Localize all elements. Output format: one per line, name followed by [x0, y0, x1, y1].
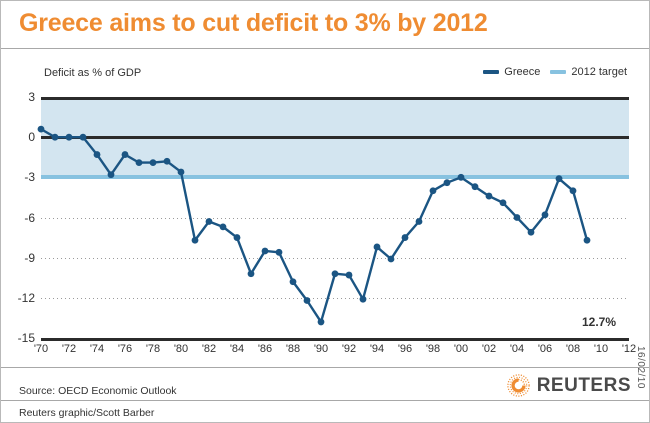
- x-axis-tick-label: '98: [426, 343, 440, 355]
- x-axis-tick-label: '04: [510, 343, 524, 355]
- data-point: [136, 159, 143, 166]
- reuters-logo: REUTERS: [507, 374, 631, 397]
- page-title: Greece aims to cut deficit to 3% by 2012: [19, 9, 488, 38]
- chart-legend: Greece 2012 target: [483, 66, 627, 78]
- x-axis-tick-label: '80: [174, 343, 188, 355]
- data-point: [80, 134, 87, 141]
- data-point: [514, 214, 521, 221]
- data-point: [402, 234, 409, 241]
- x-axis-tick-label: '90: [314, 343, 328, 355]
- legend-swatch-2012-target: [550, 70, 566, 74]
- x-axis-tick-label: '74: [90, 343, 104, 355]
- data-point: [318, 319, 325, 326]
- data-point: [192, 237, 199, 244]
- data-point: [178, 169, 185, 176]
- graphic-credit: Reuters graphic/Scott Barber: [19, 407, 154, 419]
- reuters-wordmark: REUTERS: [537, 375, 631, 397]
- data-point: [360, 296, 367, 303]
- x-axis-tick-label: '92: [342, 343, 356, 355]
- data-point: [430, 187, 437, 194]
- data-point: [584, 237, 591, 244]
- plot-area: 30-3-6-9-12-15'70'72'74'76'78'80'82'84'8…: [41, 97, 629, 338]
- value-annotation: 12.7%: [582, 315, 616, 329]
- data-point: [542, 211, 549, 218]
- data-point: [66, 134, 73, 141]
- data-point: [332, 270, 339, 277]
- x-axis-tick-label: '76: [118, 343, 132, 355]
- source-text: Source: OECD Economic Outlook: [19, 385, 177, 397]
- x-axis-tick-label: '88: [286, 343, 300, 355]
- x-axis-tick-label: '70: [34, 343, 48, 355]
- x-axis-tick-label: '78: [146, 343, 160, 355]
- data-point: [556, 175, 563, 182]
- data-point: [458, 174, 465, 181]
- data-point: [206, 218, 213, 225]
- data-point: [52, 134, 59, 141]
- x-axis-tick-label: '06: [538, 343, 552, 355]
- data-point: [234, 234, 241, 241]
- chart-subtitle: Deficit as % of GDP: [44, 67, 141, 79]
- x-axis-tick-label: '86: [258, 343, 272, 355]
- x-axis-tick-label: '10: [594, 343, 608, 355]
- data-point: [164, 158, 171, 165]
- chart-container: Deficit as % of GDP Greece 2012 target 3…: [1, 50, 649, 367]
- series-line: [41, 129, 587, 322]
- reuters-orb-icon: [507, 374, 530, 397]
- data-point: [108, 171, 115, 178]
- data-point: [388, 256, 395, 263]
- data-point: [290, 278, 297, 285]
- data-point: [528, 229, 535, 236]
- y-axis-tick-label: -9: [5, 251, 35, 265]
- data-point: [38, 126, 45, 133]
- infographic-page: Greece aims to cut deficit to 3% by 2012…: [0, 0, 650, 423]
- data-point: [262, 248, 269, 255]
- data-point: [346, 272, 353, 279]
- x-axis-tick-label: '96: [398, 343, 412, 355]
- legend-label-greece: Greece: [504, 66, 540, 78]
- data-point: [276, 249, 283, 256]
- x-axis-tick-label: '94: [370, 343, 384, 355]
- y-axis-tick-label: -6: [5, 211, 35, 225]
- y-axis-tick-label: -15: [5, 331, 35, 345]
- data-point: [570, 187, 577, 194]
- y-axis-tick-label: 3: [5, 90, 35, 104]
- x-axis-tick-label: '72: [62, 343, 76, 355]
- y-axis-tick-label: -3: [5, 170, 35, 184]
- title-bar: Greece aims to cut deficit to 3% by 2012: [1, 1, 649, 49]
- data-point: [472, 183, 479, 190]
- data-point: [500, 199, 507, 206]
- x-axis-tick-label: '02: [482, 343, 496, 355]
- legend-item-greece: Greece: [483, 66, 540, 78]
- x-axis-tick-label: '82: [202, 343, 216, 355]
- data-point: [444, 179, 451, 186]
- data-point: [374, 244, 381, 251]
- legend-item-2012-target: 2012 target: [550, 66, 627, 78]
- x-axis-tick-label: '00: [454, 343, 468, 355]
- y-axis-tick-label: 0: [5, 130, 35, 144]
- legend-swatch-greece: [483, 70, 499, 74]
- x-axis-tick-label: '08: [566, 343, 580, 355]
- x-axis-tick-label: '84: [230, 343, 244, 355]
- source-bar: Source: OECD Economic Outlook REUTERS: [1, 367, 649, 401]
- axis-bottom: [41, 338, 629, 341]
- y-axis-tick-label: -12: [5, 291, 35, 305]
- data-point: [248, 270, 255, 277]
- series-greece: [41, 97, 629, 338]
- data-point: [220, 223, 227, 230]
- data-point: [486, 193, 493, 200]
- data-point: [122, 151, 129, 158]
- legend-label-2012-target: 2012 target: [571, 66, 627, 78]
- data-point: [416, 218, 423, 225]
- data-point: [150, 159, 157, 166]
- data-point: [304, 297, 311, 304]
- data-point: [94, 151, 101, 158]
